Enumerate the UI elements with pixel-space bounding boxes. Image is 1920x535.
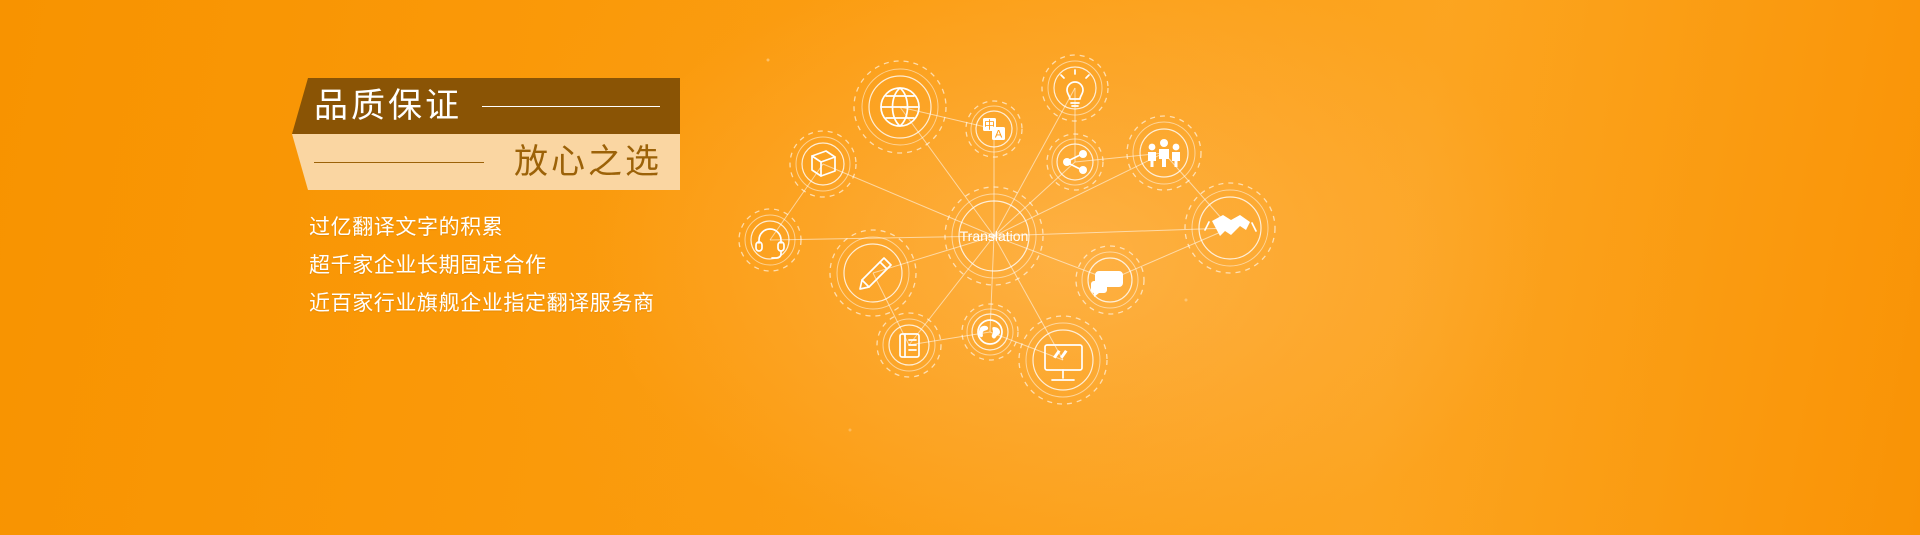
- handshake-icon: [1185, 183, 1275, 273]
- hub-label: Translation: [960, 228, 1029, 244]
- ambient-dots: [767, 59, 1188, 432]
- plaque-top-row: 品质保证: [292, 78, 680, 134]
- svg-text:A: A: [995, 129, 1003, 141]
- globe-icon: [854, 61, 946, 153]
- headline-plaque: 品质保证 放心之选: [292, 78, 680, 190]
- chat-icon: [1076, 246, 1144, 314]
- plaque-top-rule: [482, 106, 660, 107]
- plaque-bottom-text: 放心之选: [514, 134, 662, 190]
- plaque-bottom-row: 放心之选: [292, 134, 680, 190]
- svg-text:中: 中: [984, 119, 995, 132]
- promo-banner: 品质保证 放心之选 过亿翻译文字的积累 超千家企业长期固定合作 近百家行业旗舰企…: [0, 0, 1920, 535]
- notebook-icon: [877, 313, 941, 377]
- translation-network-graphic: Translation: [700, 0, 1920, 535]
- plaque-bottom-rule: [314, 162, 484, 163]
- people-icon: [1127, 116, 1201, 190]
- plaque-top-text: 品质保证: [314, 78, 462, 134]
